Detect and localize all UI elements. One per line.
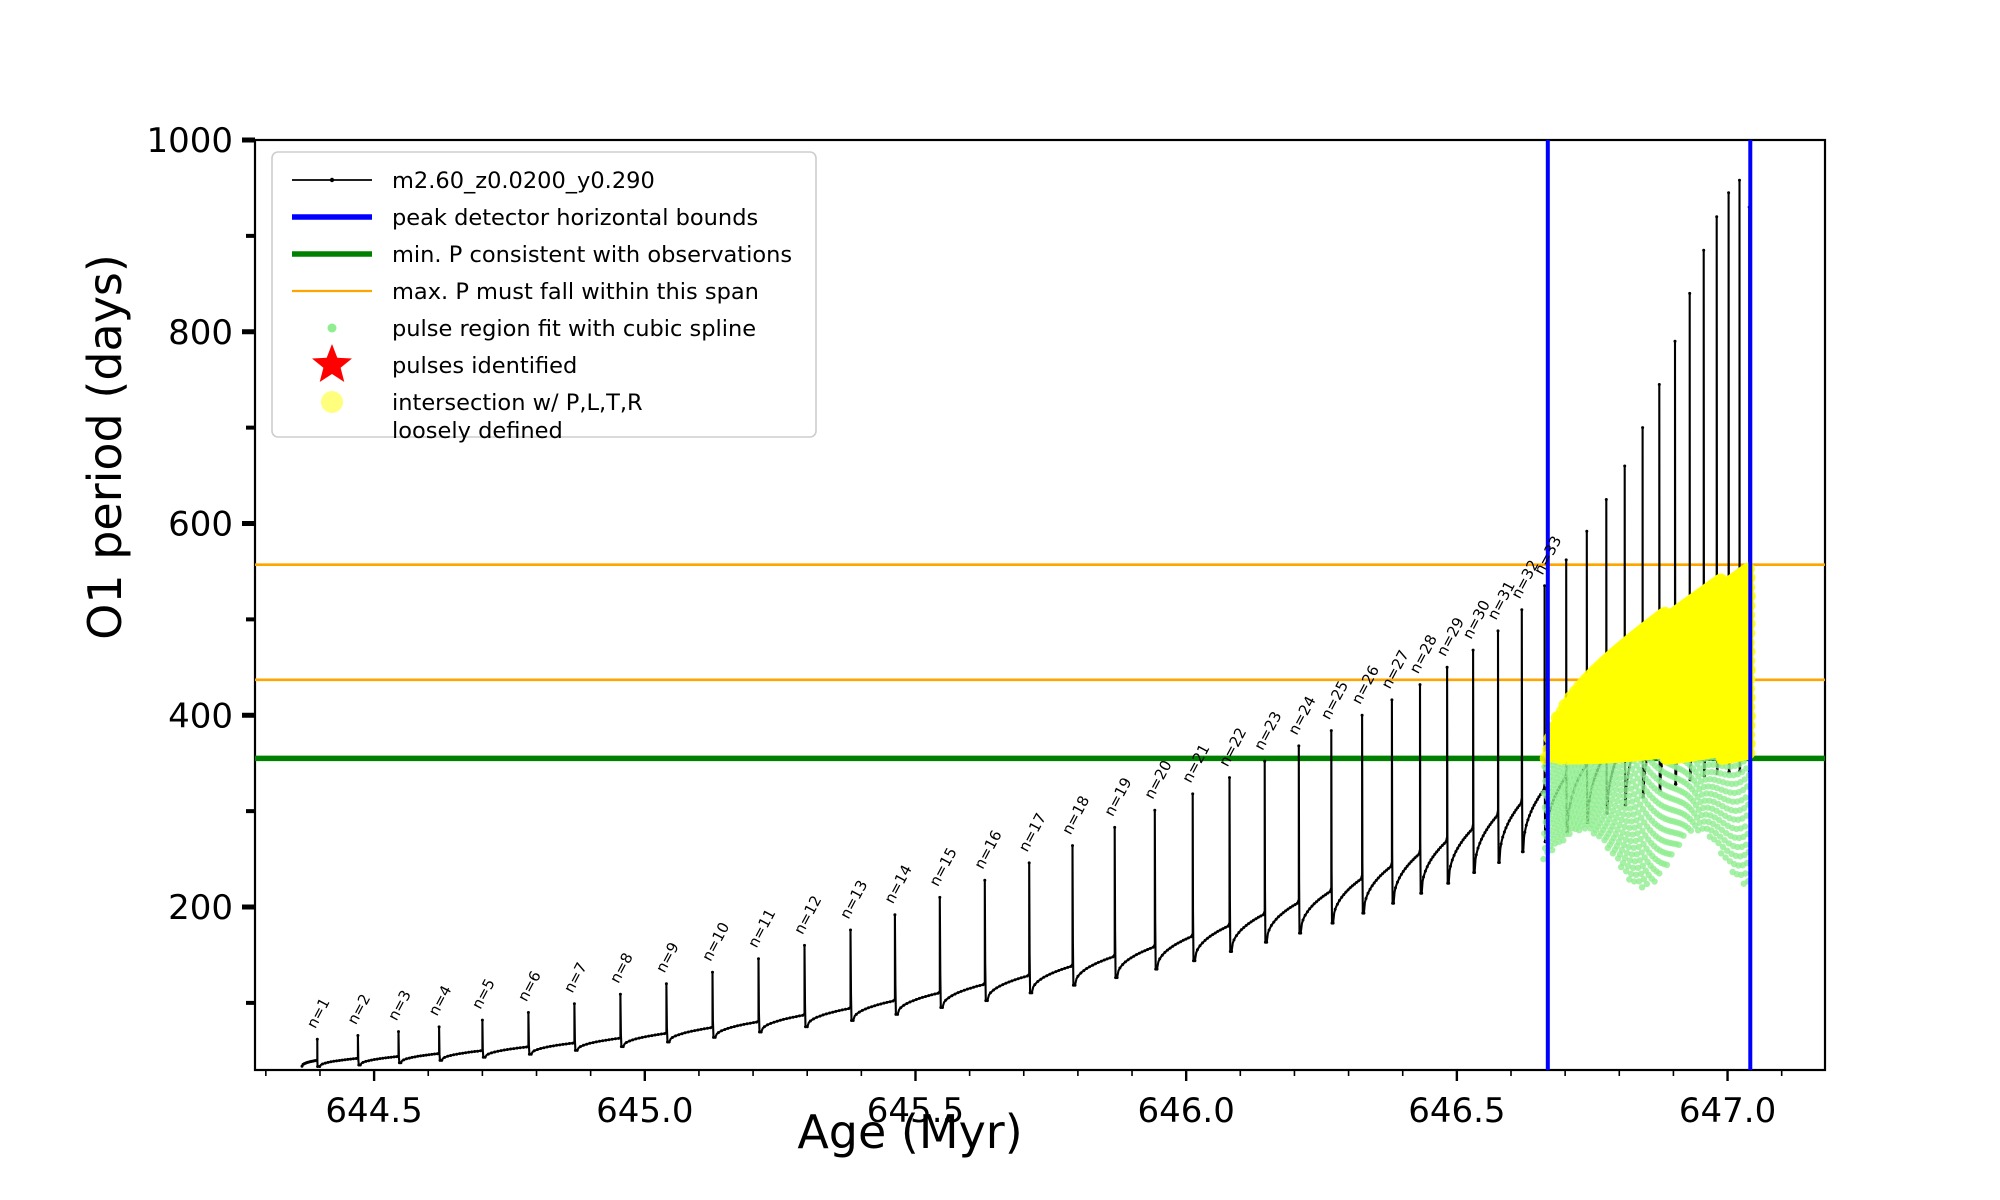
- data-point: [841, 1008, 844, 1011]
- data-point: [1473, 871, 1476, 874]
- x-axis-ticks: 644.5645.0645.5646.0646.5647.0: [266, 1070, 1782, 1131]
- data-point: [1109, 956, 1112, 959]
- data-point: [321, 1063, 324, 1066]
- data-point: [335, 1059, 338, 1062]
- data-point: [969, 987, 972, 990]
- data-point: [1503, 831, 1506, 834]
- data-point: [644, 1035, 647, 1038]
- data-point: [1390, 698, 1393, 701]
- data-point: [1204, 939, 1207, 942]
- data-point: [1313, 902, 1316, 905]
- data-point: [576, 1049, 579, 1052]
- data-point: [438, 1025, 441, 1028]
- data-point: [1361, 714, 1364, 717]
- data-point: [617, 1037, 620, 1040]
- data-point: [1359, 878, 1362, 881]
- data-point: [1449, 865, 1452, 868]
- data-point: [1454, 850, 1457, 853]
- data-point: [1513, 811, 1516, 814]
- data-point: [912, 999, 915, 1002]
- data-point: [500, 1049, 503, 1052]
- data-point: [1460, 841, 1463, 844]
- data-point: [700, 1028, 703, 1031]
- data-point: [481, 1019, 484, 1022]
- data-point: [1169, 947, 1172, 950]
- data-point: [1451, 859, 1454, 862]
- data-point: [588, 1042, 591, 1045]
- data-point: [622, 1045, 625, 1048]
- data-point: [1420, 892, 1423, 895]
- data-point: [1500, 842, 1503, 845]
- data-point: [779, 1019, 782, 1022]
- y-tick-label: 200: [168, 888, 233, 928]
- spline-point: [1680, 833, 1686, 839]
- data-point: [975, 985, 978, 988]
- data-point: [838, 1009, 841, 1012]
- data-point: [1152, 946, 1155, 949]
- data-point: [327, 1061, 330, 1064]
- data-point: [1158, 957, 1161, 960]
- data-point: [720, 1029, 723, 1032]
- data-point: [711, 971, 714, 974]
- data-point: [921, 996, 924, 999]
- data-point: [1262, 913, 1265, 916]
- data-point: [1069, 965, 1072, 968]
- data-point: [1431, 855, 1434, 858]
- data-point: [879, 1003, 882, 1006]
- data-point: [749, 1022, 752, 1025]
- data-point: [470, 1050, 473, 1053]
- data-point: [598, 1040, 601, 1043]
- data-point: [1228, 776, 1231, 779]
- data-point: [1184, 938, 1187, 941]
- data-point: [1522, 850, 1525, 853]
- data-point: [1392, 902, 1395, 905]
- data-point: [592, 1041, 595, 1044]
- y-tick-label: 800: [168, 313, 233, 353]
- data-point: [558, 1043, 561, 1046]
- data-point: [487, 1053, 490, 1056]
- data-point: [1375, 879, 1378, 882]
- data-point: [812, 1017, 815, 1020]
- data-point: [1400, 873, 1403, 876]
- data-point: [1511, 814, 1514, 817]
- data-point: [1496, 814, 1499, 817]
- spline-point: [1566, 831, 1572, 837]
- data-point: [503, 1049, 506, 1052]
- data-point: [1146, 948, 1149, 951]
- data-point: [892, 1000, 895, 1003]
- data-point: [717, 1031, 720, 1034]
- data-point: [1227, 925, 1230, 928]
- data-point: [788, 1016, 791, 1019]
- data-point: [1066, 966, 1069, 969]
- data-point: [381, 1057, 384, 1060]
- data-point: [1113, 826, 1116, 829]
- data-point: [1252, 919, 1255, 922]
- data-point: [1508, 819, 1511, 822]
- data-point: [373, 1058, 376, 1061]
- data-point: [1510, 816, 1513, 819]
- data-point: [458, 1052, 461, 1055]
- data-point: [422, 1054, 425, 1057]
- data-point: [1623, 465, 1626, 468]
- data-point: [674, 1034, 677, 1037]
- data-point: [1342, 893, 1345, 896]
- data-point: [930, 993, 933, 996]
- data-point: [585, 1043, 588, 1046]
- legend-swatch-dot: [330, 178, 334, 182]
- data-point: [1525, 824, 1528, 827]
- data-point: [867, 1006, 870, 1009]
- data-point: [941, 1006, 944, 1009]
- data-point: [562, 1043, 565, 1046]
- data-point: [1501, 836, 1504, 839]
- x-tick-label: 644.5: [325, 1091, 422, 1131]
- data-point: [1456, 847, 1459, 850]
- data-point: [414, 1055, 417, 1058]
- data-point: [1100, 960, 1103, 963]
- data-point: [714, 1036, 717, 1039]
- data-point: [1193, 959, 1196, 962]
- data-point: [1149, 947, 1152, 950]
- data-point: [696, 1029, 699, 1032]
- spline-point: [1668, 851, 1674, 857]
- data-point: [825, 1012, 828, 1015]
- data-point: [390, 1056, 393, 1059]
- data-point: [1526, 818, 1529, 821]
- data-point: [1004, 982, 1007, 985]
- data-point: [873, 1004, 876, 1007]
- data-point: [668, 1041, 671, 1044]
- data-point: [1209, 935, 1212, 938]
- data-point: [355, 1057, 358, 1060]
- data-point: [1641, 426, 1644, 429]
- data-point: [601, 1039, 604, 1042]
- data-point: [1054, 970, 1057, 973]
- data-point: [346, 1058, 349, 1061]
- data-point: [367, 1059, 370, 1062]
- data-point: [1426, 865, 1429, 868]
- data-point: [727, 1027, 730, 1030]
- data-point: [1124, 960, 1127, 963]
- data-point: [1179, 940, 1182, 943]
- data-point: [332, 1060, 335, 1063]
- data-point: [706, 1027, 709, 1030]
- data-point: [1097, 961, 1100, 964]
- data-point: [933, 993, 936, 996]
- data-point: [1237, 931, 1240, 934]
- data-point: [484, 1056, 487, 1059]
- data-point: [452, 1053, 455, 1056]
- x-tick-label: 647.0: [1679, 1091, 1776, 1131]
- data-point: [329, 1060, 332, 1063]
- data-point: [1079, 972, 1082, 975]
- data-point: [684, 1031, 687, 1034]
- data-point: [1330, 729, 1333, 732]
- x-tick-label: 645.5: [867, 1091, 964, 1131]
- data-point: [384, 1056, 387, 1059]
- data-point: [1727, 191, 1730, 194]
- data-point: [433, 1053, 436, 1056]
- data-point: [742, 1023, 745, 1026]
- data-point: [416, 1055, 419, 1058]
- data-point: [425, 1054, 428, 1057]
- spline-point: [1651, 878, 1657, 884]
- data-point: [828, 1012, 831, 1015]
- spline-point: [1676, 842, 1682, 848]
- data-point: [709, 1026, 712, 1029]
- data-point: [1453, 854, 1456, 857]
- legend-label: min. P consistent with observations: [392, 242, 792, 268]
- data-point: [1247, 922, 1250, 925]
- data-point: [1048, 973, 1051, 976]
- data-point: [1445, 840, 1448, 843]
- data-point: [950, 994, 953, 997]
- data-point: [1536, 798, 1539, 801]
- data-point: [989, 991, 992, 994]
- data-point: [909, 1001, 912, 1004]
- data-point: [1304, 914, 1307, 917]
- data-point: [1071, 844, 1074, 847]
- data-point: [1340, 896, 1343, 899]
- data-point: [1116, 976, 1119, 979]
- data-point: [1282, 911, 1285, 914]
- data-point: [815, 1016, 818, 1019]
- data-point: [1112, 955, 1115, 958]
- y-tick-label: 600: [168, 505, 233, 545]
- data-point: [1483, 831, 1486, 834]
- data-point: [1163, 951, 1166, 954]
- data-point: [938, 896, 941, 899]
- data-point: [1187, 936, 1190, 939]
- data-point: [882, 1002, 885, 1005]
- data-point: [806, 1025, 809, 1028]
- data-point: [795, 1015, 798, 1018]
- data-point: [1394, 886, 1397, 889]
- data-point: [1528, 814, 1531, 817]
- data-point: [798, 1014, 801, 1017]
- data-point: [773, 1021, 776, 1024]
- data-point: [399, 1061, 402, 1064]
- data-point: [1505, 826, 1508, 829]
- data-point: [1498, 861, 1501, 864]
- data-point: [539, 1047, 542, 1050]
- data-point: [899, 1006, 902, 1009]
- data-point: [1132, 955, 1135, 958]
- data-point: [858, 1011, 861, 1014]
- data-point: [619, 993, 622, 996]
- data-point: [1531, 807, 1534, 810]
- spline-point: [1540, 856, 1546, 862]
- data-point: [963, 989, 966, 992]
- x-tick-label: 646.0: [1138, 1091, 1235, 1131]
- data-point: [1118, 967, 1121, 970]
- data-point: [1428, 862, 1431, 865]
- data-point: [1106, 957, 1109, 960]
- data-point: [1417, 853, 1420, 856]
- data-point: [527, 1011, 530, 1014]
- data-point: [1214, 932, 1217, 935]
- data-point: [954, 993, 957, 996]
- data-point: [428, 1053, 431, 1056]
- data-point: [1240, 928, 1243, 931]
- data-point: [924, 995, 927, 998]
- data-point: [419, 1054, 422, 1057]
- data-point: [663, 1032, 666, 1035]
- data-point: [687, 1031, 690, 1034]
- data-point: [608, 1038, 611, 1041]
- data-point: [1332, 922, 1335, 925]
- data-point: [944, 999, 947, 1002]
- data-point: [1446, 666, 1449, 669]
- data-point: [1482, 834, 1485, 837]
- data-point: [902, 1004, 905, 1007]
- x-tick-label: 645.0: [596, 1091, 693, 1131]
- data-point: [473, 1050, 476, 1053]
- legend-label: pulses identified: [392, 353, 577, 379]
- data-point: [986, 999, 989, 1002]
- data-point: [1373, 882, 1376, 885]
- data-point: [876, 1003, 879, 1006]
- data-point: [625, 1041, 628, 1044]
- data-point: [665, 982, 668, 985]
- data-point: [1017, 977, 1020, 980]
- data-point: [1475, 853, 1478, 856]
- data-point: [1302, 919, 1305, 922]
- data-point: [1306, 910, 1309, 913]
- data-point: [1658, 383, 1661, 386]
- data-point: [1275, 918, 1278, 921]
- data-point: [1206, 937, 1209, 940]
- data-point: [1233, 938, 1236, 941]
- data-point: [641, 1036, 644, 1039]
- data-point: [1091, 964, 1094, 967]
- data-point: [1362, 912, 1365, 915]
- data-point: [886, 1001, 889, 1004]
- data-point: [801, 1014, 804, 1017]
- data-point: [436, 1052, 439, 1055]
- data-point: [889, 1000, 892, 1003]
- data-point: [1533, 804, 1536, 807]
- data-point: [582, 1044, 585, 1047]
- data-point: [1008, 981, 1011, 984]
- data-point: [752, 1021, 755, 1024]
- data-point: [1480, 838, 1483, 841]
- legend-swatch-dot: [328, 324, 337, 333]
- data-point: [803, 944, 806, 947]
- figure-canvas: O1 period (days) Age (Myr) n=1n=2n=3n=4n…: [0, 0, 2000, 1200]
- data-point: [1060, 968, 1063, 971]
- data-point: [1702, 249, 1705, 252]
- data-point: [1242, 926, 1245, 929]
- data-point: [1433, 853, 1436, 856]
- data-point: [1404, 867, 1407, 870]
- legend-label: pulse region fit with cubic spline: [392, 316, 756, 342]
- data-point: [395, 1055, 398, 1058]
- data-point: [595, 1040, 598, 1043]
- data-point: [681, 1032, 684, 1035]
- data-point: [792, 1016, 795, 1019]
- data-point: [370, 1059, 373, 1062]
- data-point: [379, 1057, 382, 1060]
- data-point: [819, 1015, 822, 1018]
- data-point: [411, 1056, 414, 1059]
- data-point: [549, 1045, 552, 1048]
- data-point: [757, 957, 760, 960]
- data-point: [1130, 956, 1133, 959]
- data-point: [1045, 974, 1048, 977]
- data-point: [1543, 584, 1546, 587]
- data-point: [766, 1023, 769, 1026]
- data-point: [493, 1051, 496, 1054]
- data-point: [1026, 975, 1029, 978]
- data-point: [1082, 969, 1085, 972]
- data-point: [479, 1049, 482, 1052]
- legend[interactable]: m2.60_z0.0200_y0.290peak detector horizo…: [272, 152, 816, 444]
- data-point: [315, 1059, 318, 1062]
- data-point: [1530, 810, 1533, 813]
- data-point: [809, 1020, 812, 1023]
- data-point: [849, 929, 852, 932]
- data-point: [1028, 861, 1031, 864]
- data-point: [1272, 921, 1275, 924]
- data-point: [1674, 340, 1677, 343]
- data-point: [1377, 877, 1380, 880]
- y-axis-ticks: 2004006008001000: [146, 121, 255, 1003]
- data-point: [1365, 897, 1368, 900]
- data-point: [1398, 876, 1401, 879]
- data-point: [443, 1056, 446, 1059]
- data-point: [1174, 943, 1177, 946]
- data-point: [1430, 858, 1433, 861]
- data-point: [1051, 971, 1054, 974]
- data-point: [1284, 909, 1287, 912]
- data-point: [983, 879, 986, 882]
- spline-point: [1560, 837, 1566, 843]
- data-point: [677, 1033, 680, 1036]
- data-point: [467, 1051, 470, 1054]
- data-point: [870, 1005, 873, 1008]
- data-point: [847, 1007, 850, 1010]
- data-point: [408, 1057, 411, 1060]
- data-point: [402, 1058, 405, 1061]
- data-point: [1519, 802, 1522, 805]
- data-point: [1478, 842, 1481, 845]
- data-point: [1076, 975, 1079, 978]
- data-point: [1334, 908, 1337, 911]
- data-point: [660, 1033, 663, 1036]
- data-point: [1447, 882, 1450, 885]
- data-point: [690, 1030, 693, 1033]
- data-point: [579, 1045, 582, 1048]
- data-point: [359, 1064, 362, 1067]
- data-point: [542, 1046, 545, 1049]
- data-point: [1299, 932, 1302, 935]
- data-point: [1263, 760, 1266, 763]
- legend-label: max. P must fall within this span: [392, 279, 759, 305]
- data-point: [671, 1036, 674, 1039]
- data-point: [1424, 870, 1427, 873]
- data-point: [957, 991, 960, 994]
- y-tick-label: 400: [168, 696, 233, 736]
- data-point: [1389, 865, 1392, 868]
- data-point: [387, 1056, 390, 1059]
- spline-point: [1742, 870, 1748, 876]
- data-point: [318, 1065, 321, 1068]
- data-point: [1143, 949, 1146, 952]
- data-point: [861, 1009, 864, 1012]
